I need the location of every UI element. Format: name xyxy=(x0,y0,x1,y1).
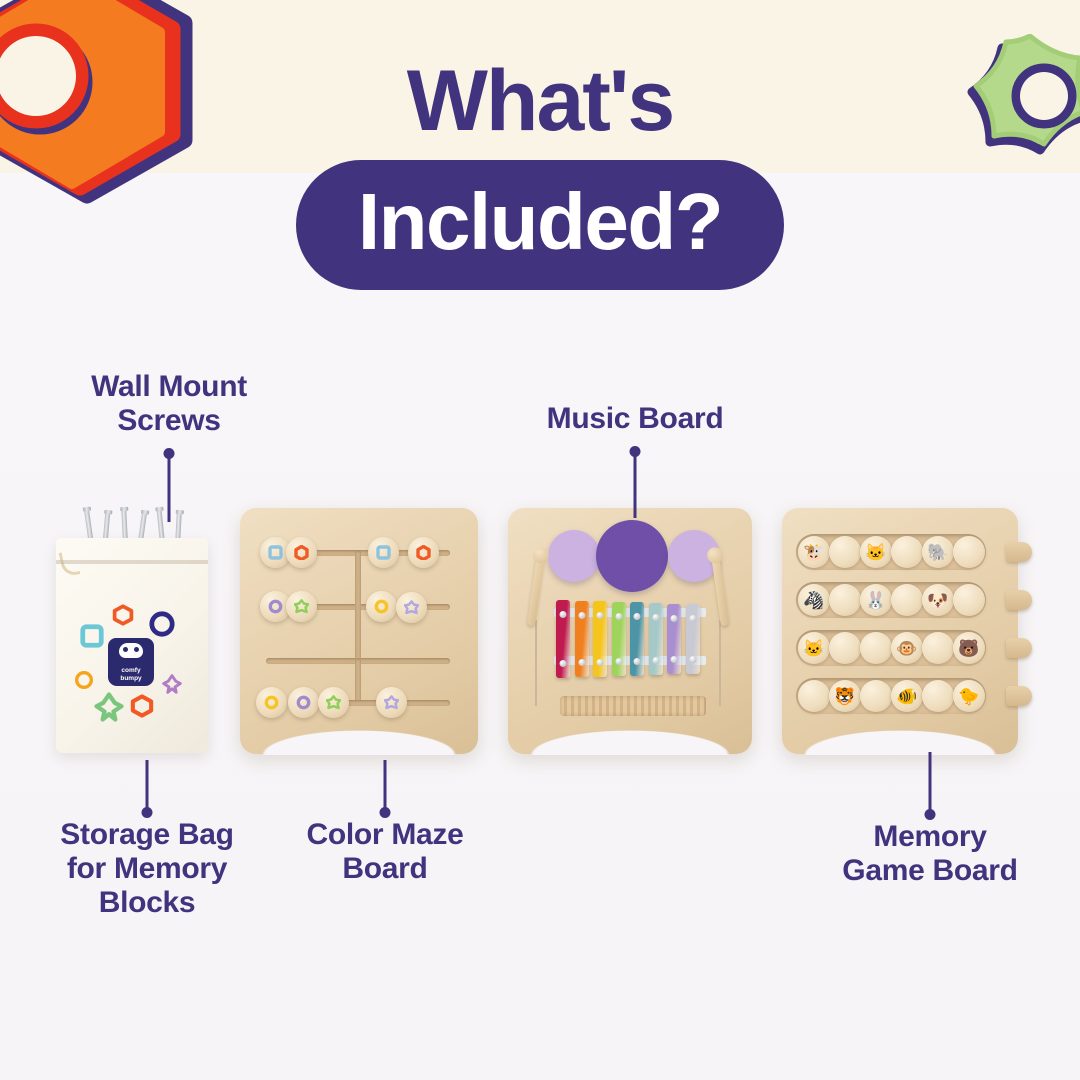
printed-shape-star xyxy=(162,674,182,694)
mallet-handle[interactable] xyxy=(711,554,729,626)
maze-bead-star[interactable] xyxy=(376,687,407,718)
printed-shape-circle xyxy=(148,610,176,638)
memory-disc-monkey[interactable]: 🐵 xyxy=(891,632,923,664)
memory-disc-blank[interactable] xyxy=(953,536,985,568)
maze-bead-star[interactable] xyxy=(396,592,427,623)
bag-hem xyxy=(56,560,208,564)
memory-game-board-image: 🐮🐱🐘🦓🐰🐶🐱🐵🐻🐯🐠🐤 xyxy=(782,508,1018,754)
connector-line xyxy=(168,456,171,522)
board-cutout-foot xyxy=(508,715,752,755)
memory-disc-blank[interactable] xyxy=(922,632,954,664)
maze-bead-star[interactable] xyxy=(318,687,349,718)
callout-connector xyxy=(270,760,500,818)
mallet-string xyxy=(719,620,721,706)
mallet-handle[interactable] xyxy=(527,554,545,626)
memory-disc-dog[interactable]: 🐶 xyxy=(922,584,954,616)
callout-color-maze-board: Color Maze Board xyxy=(270,760,500,886)
memory-disc-elephant[interactable]: 🐘 xyxy=(922,536,954,568)
memory-disc-blank[interactable] xyxy=(922,680,954,712)
memory-disc-chick[interactable]: 🐤 xyxy=(953,680,985,712)
connector-line xyxy=(146,760,149,808)
maze-bead-hexagon[interactable] xyxy=(286,537,317,568)
memory-disc-cow[interactable]: 🐮 xyxy=(798,536,830,568)
callout-connector xyxy=(22,760,272,818)
memory-disc-cat[interactable]: 🐱 xyxy=(798,632,830,664)
memory-disc-tiger[interactable]: 🐯 xyxy=(829,680,861,712)
xylophone-key[interactable] xyxy=(686,604,700,674)
xylophone-key[interactable] xyxy=(667,604,681,675)
memory-knob[interactable] xyxy=(1006,686,1032,706)
callout-wall-mount-screws: Wall Mount Screws xyxy=(34,370,304,534)
callout-label: Music Board xyxy=(495,402,775,436)
xylophone-key[interactable] xyxy=(575,601,589,678)
connector-line xyxy=(634,454,637,518)
connector-line xyxy=(929,752,932,810)
mallet-string xyxy=(535,620,537,706)
printed-shape-circle xyxy=(74,670,94,690)
memory-knob[interactable] xyxy=(1006,542,1032,562)
memory-disc-blank[interactable] xyxy=(891,536,923,568)
maze-bead-circle[interactable] xyxy=(256,687,287,718)
title-pill-included: Included? xyxy=(296,160,784,290)
memory-disc-blank[interactable] xyxy=(891,584,923,616)
memory-disc-fish[interactable]: 🐠 xyxy=(891,680,923,712)
music-board-image xyxy=(508,508,752,754)
memory-disc-blank[interactable] xyxy=(860,680,892,712)
callout-label: Memory Game Board xyxy=(790,820,1070,888)
maze-bead-circle[interactable] xyxy=(366,591,397,622)
maze-bead-hexagon[interactable] xyxy=(408,537,439,568)
callout-connector xyxy=(790,752,1070,820)
logo-line-1: comfy xyxy=(120,667,141,674)
callout-connector xyxy=(495,446,775,530)
callout-music-board: Music Board xyxy=(495,402,775,530)
connector-line xyxy=(384,760,387,808)
board-cutout-foot xyxy=(240,715,478,755)
mallet-head xyxy=(532,546,550,564)
xylophone-key[interactable] xyxy=(630,602,644,675)
maze-bead-square[interactable] xyxy=(368,537,399,568)
memory-disc-blank[interactable] xyxy=(829,632,861,664)
memory-knob[interactable] xyxy=(1006,638,1032,658)
callout-label: Wall Mount Screws xyxy=(34,370,304,438)
memory-disc-blank[interactable] xyxy=(829,584,861,616)
logo-line-2: bumpy xyxy=(120,675,141,682)
xylophone-key[interactable] xyxy=(649,603,663,675)
page-title: What's Included? xyxy=(0,58,1080,290)
printed-shape-hexagon xyxy=(130,694,154,718)
memory-disc-blank[interactable] xyxy=(829,536,861,568)
storage-bag-image: comfy bumpy xyxy=(56,538,208,753)
callout-connector xyxy=(34,448,304,534)
color-maze-board-image xyxy=(240,508,478,754)
connector-dot xyxy=(380,807,391,818)
memory-disc-bear[interactable]: 🐻 xyxy=(953,632,985,664)
printed-shape-star xyxy=(94,692,124,722)
xylophone-key[interactable] xyxy=(593,601,607,677)
connector-dot xyxy=(925,809,936,820)
maze-groove xyxy=(355,550,361,666)
guiro-rasp-bar[interactable] xyxy=(560,696,706,716)
callout-label: Color Maze Board xyxy=(270,818,500,886)
memory-disc-zebra[interactable]: 🦓 xyxy=(798,584,830,616)
bag-printed-graphic: comfy bumpy xyxy=(70,598,194,723)
panda-face-icon xyxy=(119,643,143,658)
printed-shape-square xyxy=(78,622,106,650)
drum-pad[interactable] xyxy=(596,520,668,592)
xylophone-key[interactable] xyxy=(612,602,626,676)
comfy-bumpy-logo: comfy bumpy xyxy=(108,638,154,686)
maze-bead-star[interactable] xyxy=(286,591,317,622)
memory-disc-blank[interactable] xyxy=(860,632,892,664)
memory-disc-blank[interactable] xyxy=(953,584,985,616)
xylophone-key[interactable] xyxy=(556,600,570,678)
connector-dot xyxy=(142,807,153,818)
maze-groove xyxy=(355,658,361,706)
memory-disc-cat[interactable]: 🐱 xyxy=(860,536,892,568)
memory-disc-rabbit[interactable]: 🐰 xyxy=(860,584,892,616)
title-line-1: What's xyxy=(0,58,1080,146)
printed-shape-hexagon xyxy=(112,604,134,626)
drum-pad[interactable] xyxy=(548,530,600,582)
callout-memory-game-board: Memory Game Board xyxy=(790,752,1070,888)
maze-bead-circle[interactable] xyxy=(288,687,319,718)
callout-label: Storage Bag for Memory Blocks xyxy=(22,818,272,920)
memory-knob[interactable] xyxy=(1006,590,1032,610)
callout-storage-bag: Storage Bag for Memory Blocks xyxy=(22,760,272,920)
memory-disc-blank[interactable] xyxy=(798,680,830,712)
board-cutout-foot xyxy=(782,715,1018,755)
